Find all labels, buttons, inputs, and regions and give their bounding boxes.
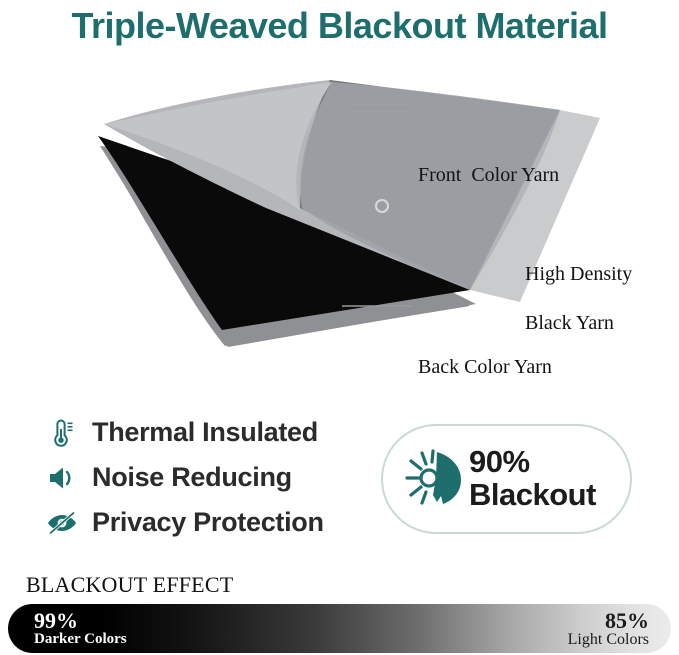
feature-label-privacy-protection: Privacy Protection (92, 507, 324, 538)
feature-item-privacy-protection: Privacy Protection (42, 500, 362, 545)
effect-dark-percent: 99% (34, 609, 127, 632)
blackout-percentage-badge: 90% Blackout (381, 424, 632, 534)
label-high-density-black-yarn: High Density Black Yarn (505, 238, 632, 360)
feature-item-thermal-insulated: Thermal Insulated (42, 410, 362, 455)
feature-label-thermal-insulated: Thermal Insulated (92, 417, 318, 448)
blackout-label: Blackout (469, 479, 596, 512)
blackout-percent-value: 90% (469, 446, 596, 479)
feature-list: Thermal Insulated Noise Reducing Privacy… (42, 410, 362, 545)
effect-dark-side: 99% Darker Colors (34, 609, 127, 648)
feature-item-noise-reducing: Noise Reducing (42, 455, 362, 500)
speaker-sound-icon (42, 460, 82, 496)
blackout-effect-gradient-bar: 99% Darker Colors 85% Light Colors (8, 604, 671, 653)
effect-light-percent: 85% (568, 609, 649, 632)
label-front-color-yarn: Front Color Yarn (418, 163, 559, 187)
effect-light-caption: Light Colors (568, 632, 649, 649)
feature-label-noise-reducing: Noise Reducing (92, 462, 292, 493)
effect-dark-caption: Darker Colors (34, 632, 127, 648)
label-high-density-line2: Black Yarn (525, 312, 614, 334)
label-high-density-line1: High Density (525, 263, 632, 285)
page-title: Triple-Weaved Blackout Material (0, 0, 679, 52)
eye-slash-icon (42, 505, 82, 541)
label-back-color-yarn: Back Color Yarn (418, 355, 552, 379)
fabric-layers-diagram: Front Color Yarn High Density Black Yarn… (0, 58, 679, 348)
sun-behind-curtain-icon (383, 448, 469, 510)
blackout-effect-heading: BLACKOUT EFFECT (26, 572, 233, 598)
blackout-badge-text: 90% Blackout (469, 446, 596, 511)
effect-light-side: 85% Light Colors (568, 609, 649, 649)
thermometer-icon (42, 415, 82, 451)
